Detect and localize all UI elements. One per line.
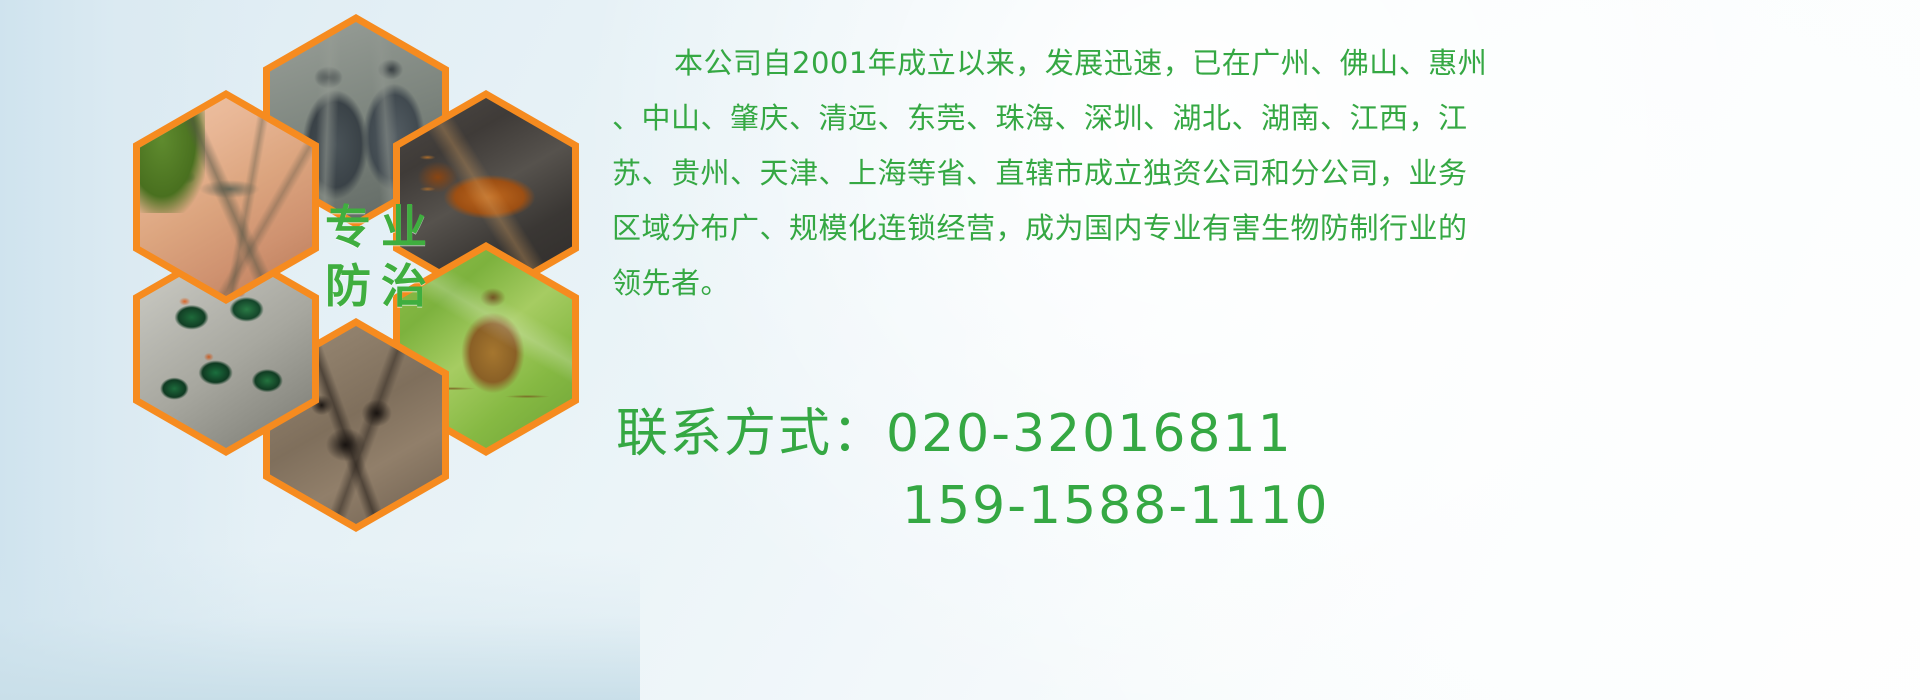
contact-phone-landline[interactable]: 联系方式：020-32016811 — [616, 398, 1916, 470]
logo-slogan: 专业 防治 — [286, 198, 466, 316]
contact-block: 联系方式：020-32016811 159-1588-1110 — [616, 398, 1916, 542]
description-line-3: 苏、贵州、天津、上海等省、直辖市成立独资公司和分公司，业务 — [612, 146, 1912, 201]
logo-slogan-line-2: 防治 — [286, 257, 466, 316]
company-intro-banner: 专业 防治 本公司自2001年成立以来，发展迅速，已在广州、佛山、惠州 、中山、… — [0, 0, 1920, 700]
logo-slogan-line-1: 专业 — [286, 198, 466, 257]
description-line-5: 领先者。 — [612, 256, 1912, 311]
description-line-2: 、中山、肇庆、清远、东莞、珠海、深圳、湖北、湖南、江西，江 — [612, 91, 1912, 146]
contact-phone-mobile[interactable]: 159-1588-1110 — [616, 470, 1916, 542]
description-line-1: 本公司自2001年成立以来，发展迅速，已在广州、佛山、惠州 — [612, 36, 1912, 91]
description-line-4: 区域分布广、规模化连锁经营，成为国内专业有害生物防制行业的 — [612, 201, 1912, 256]
company-description: 本公司自2001年成立以来，发展迅速，已在广州、佛山、惠州 、中山、肇庆、清远、… — [612, 36, 1912, 311]
